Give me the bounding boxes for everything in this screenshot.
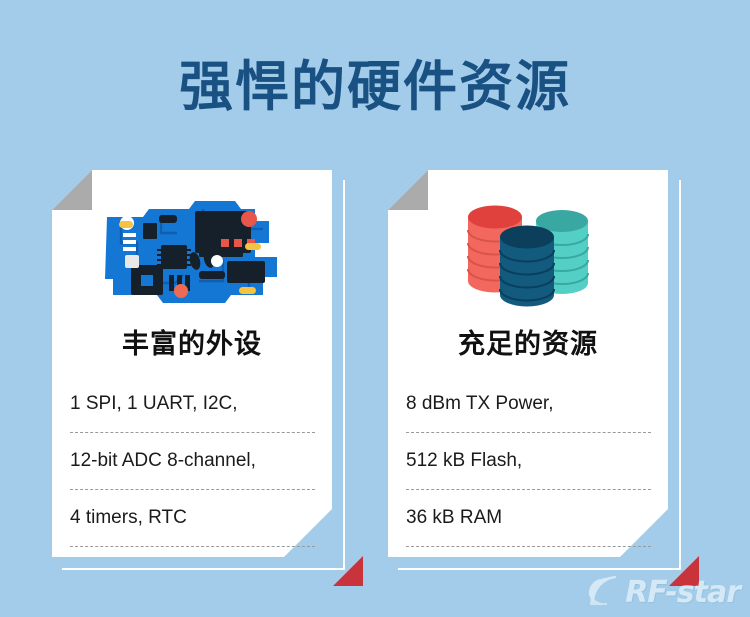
spec-text: 512 kB Flash, — [406, 450, 522, 472]
spec-row: 12-bit ADC 8-channel, — [70, 433, 315, 490]
watermark-text: RF-star — [625, 575, 740, 610]
spec-row: 4 timers, RTC — [70, 490, 315, 547]
card-body: 丰富的外设 1 SPI, 1 UART, I2C, 12-bit ADC 8-c… — [52, 170, 332, 557]
spec-text: 12-bit ADC 8-channel, — [70, 450, 256, 472]
spec-row: 512 kB Flash, — [406, 433, 651, 490]
page-title: 强悍的硬件资源 — [0, 56, 750, 118]
feature-card-resources: 充足的资源 8 dBm TX Power, 512 kB Flash, 36 k… — [388, 170, 683, 572]
spec-text: 4 timers, RTC — [70, 507, 187, 529]
database-stack-icon — [388, 196, 668, 314]
folded-corner-bottom-right-icon — [333, 556, 363, 586]
card-heading: 丰富的外设 — [52, 322, 332, 361]
card-body: 充足的资源 8 dBm TX Power, 512 kB Flash, 36 k… — [388, 170, 668, 557]
spec-row: 8 dBm TX Power, — [406, 376, 651, 433]
watermark: RF-star — [587, 574, 740, 611]
cards-container: 丰富的外设 1 SPI, 1 UART, I2C, 12-bit ADC 8-c… — [0, 170, 750, 590]
spec-list: 8 dBm TX Power, 512 kB Flash, 36 kB RAM — [406, 376, 651, 547]
spec-row: 36 kB RAM — [406, 490, 651, 547]
spec-text: 36 kB RAM — [406, 507, 502, 529]
feature-card-peripherals: 丰富的外设 1 SPI, 1 UART, I2C, 12-bit ADC 8-c… — [52, 170, 347, 572]
rf-waves-icon — [587, 574, 621, 611]
card-heading: 充足的资源 — [388, 322, 668, 361]
spec-row: 1 SPI, 1 UART, I2C, — [70, 376, 315, 433]
spec-list: 1 SPI, 1 UART, I2C, 12-bit ADC 8-channel… — [70, 376, 315, 547]
spec-text: 1 SPI, 1 UART, I2C, — [70, 393, 238, 415]
spec-text: 8 dBm TX Power, — [406, 393, 554, 415]
circuit-board-icon — [52, 196, 332, 314]
